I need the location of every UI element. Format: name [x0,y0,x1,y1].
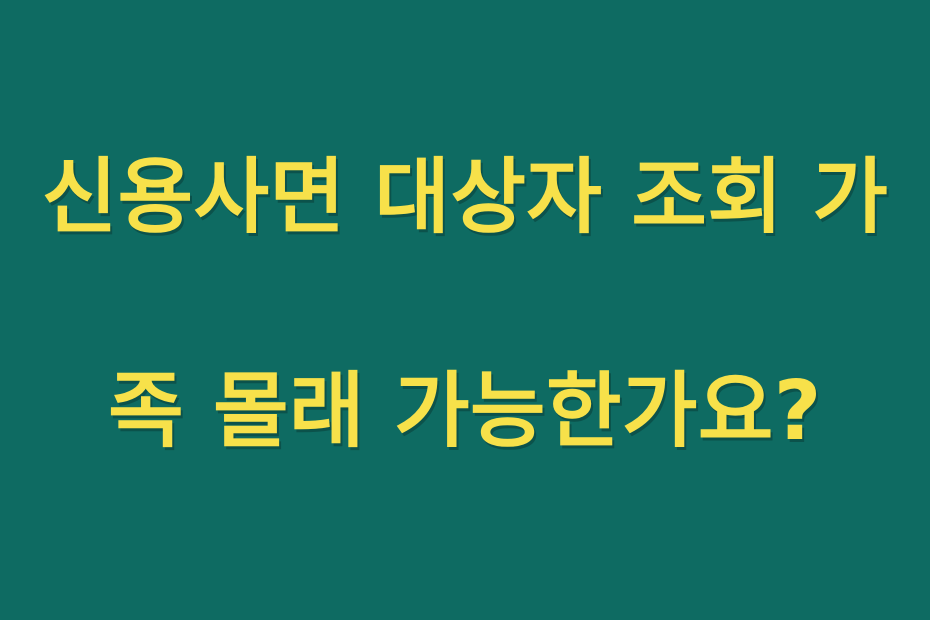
title-line-2: 족 몰래 가능한가요? [35,358,895,465]
title-line-1: 신용사면 대상자 조회 가 [35,144,895,251]
thumbnail-card: 신용사면 대상자 조회 가 족 몰래 가능한가요? [0,0,930,620]
page-title: 신용사면 대상자 조회 가 족 몰래 가능한가요? [35,37,895,572]
